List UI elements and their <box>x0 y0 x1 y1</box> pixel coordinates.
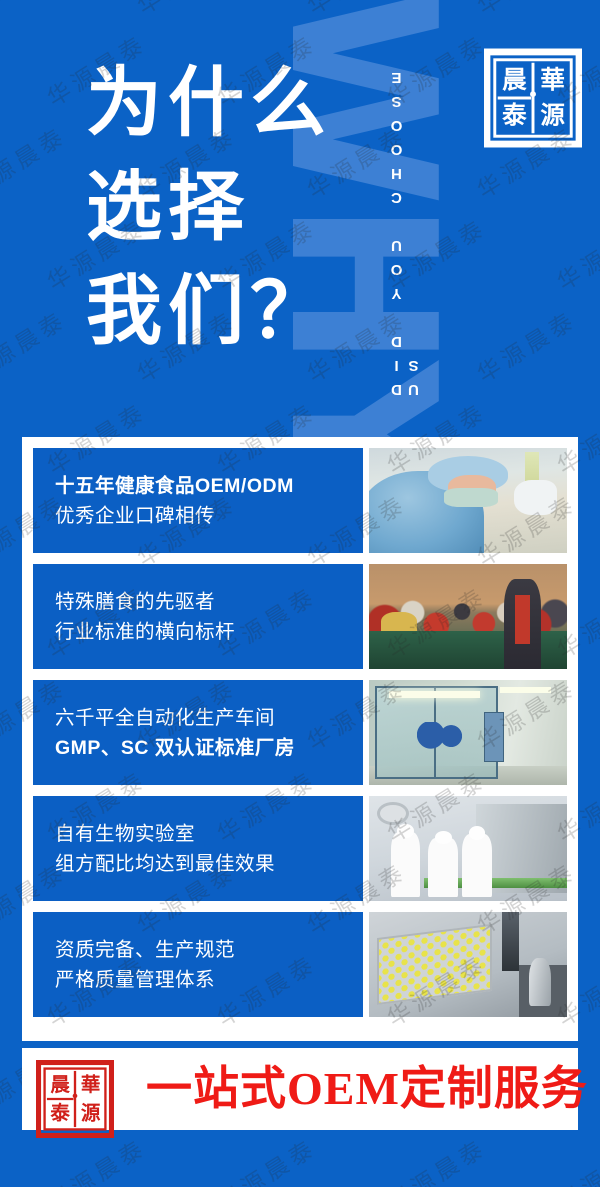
feature-text-block: 六千平全自动化生产车间 GMP、SC 双认证标准厂房 <box>33 680 363 785</box>
svg-text:源: 源 <box>540 100 565 129</box>
watermark-text: 华源晨泰 <box>550 1129 600 1187</box>
svg-text:源: 源 <box>81 1101 101 1124</box>
feature-line-2: 严格质量管理体系 <box>55 965 363 995</box>
feature-row: 资质完备、生产规范 严格质量管理体系 <box>33 912 567 1017</box>
page-title: 为什么 选择 我们？ <box>86 52 386 364</box>
feature-text-block: 特殊膳食的先驱者 行业标准的横向标杆 <box>33 564 363 669</box>
cta-banner-text: 一站式OEM定制服务 <box>146 1066 588 1112</box>
photo-lab-staff-production-line <box>369 796 567 901</box>
svg-text:泰: 泰 <box>49 1101 70 1124</box>
feature-line-1: 资质完备、生产规范 <box>55 935 363 965</box>
feature-line-2: 行业标准的横向标杆 <box>55 617 363 647</box>
feature-line-2: 组方配比均达到最佳效果 <box>55 849 363 879</box>
feature-line-1: 自有生物实验室 <box>55 819 363 849</box>
vertical-english-tagline: DID YOU CHOOSE US <box>396 18 422 398</box>
poster-header: WHY 为什么 选择 我们？ DID YOU CHOOSE US 晨 泰 華 源 <box>0 0 600 437</box>
feature-text-block: 自有生物实验室 组方配比均达到最佳效果 <box>33 796 363 901</box>
poster-root: WHY 为什么 选择 我们？ DID YOU CHOOSE US 晨 泰 華 源 <box>0 0 600 1187</box>
svg-text:泰: 泰 <box>502 100 527 129</box>
photo-industry-conference-audience <box>369 564 567 669</box>
features-panel: 十五年健康食品OEM/ODM 优秀企业口碑相传 特殊膳食的先驱者 行业标准的横向… <box>22 437 578 1041</box>
svg-text:華: 華 <box>540 65 565 94</box>
svg-text:晨: 晨 <box>502 65 527 94</box>
title-line-1: 为什么 <box>86 52 386 156</box>
feature-line-2: 优秀企业口碑相传 <box>55 501 363 531</box>
feature-line-2: GMP、SC 双认证标准厂房 <box>55 733 363 763</box>
feature-row: 六千平全自动化生产车间 GMP、SC 双认证标准厂房 <box>33 680 567 785</box>
photo-lab-technician-sampling <box>369 448 567 553</box>
company-seal-stamp: 晨 泰 華 源 <box>484 48 582 148</box>
photo-capsule-blister-packing <box>369 912 567 1017</box>
feature-row: 特殊膳食的先驱者 行业标准的横向标杆 <box>33 564 567 669</box>
watermark-row: 华源晨泰华源晨泰华源晨泰华源晨泰华源晨泰华源晨泰 <box>0 1156 600 1187</box>
svg-text:晨: 晨 <box>50 1073 70 1096</box>
vertical-english-text: DID YOU CHOOSE US <box>388 18 422 398</box>
feature-line-1: 特殊膳食的先驱者 <box>55 587 363 617</box>
watermark-text: 华源晨泰 <box>380 1129 493 1187</box>
feature-line-1: 十五年健康食品OEM/ODM <box>55 471 363 501</box>
feature-line-1: 六千平全自动化生产车间 <box>55 703 363 733</box>
title-line-3: 我们？ <box>86 260 386 364</box>
svg-text:華: 華 <box>81 1073 101 1096</box>
feature-row: 十五年健康食品OEM/ODM 优秀企业口碑相传 <box>33 448 567 553</box>
feature-text-block: 十五年健康食品OEM/ODM 优秀企业口碑相传 <box>33 448 363 553</box>
watermark-text: 华源晨泰 <box>210 1129 323 1187</box>
photo-cleanroom-glass-corridor <box>369 680 567 785</box>
feature-row: 自有生物实验室 组方配比均达到最佳效果 <box>33 796 567 901</box>
title-line-2: 选择 <box>86 156 386 260</box>
feature-text-block: 资质完备、生产规范 严格质量管理体系 <box>33 912 363 1017</box>
company-seal-stamp-red: 晨 泰 華 源 <box>36 1060 114 1138</box>
